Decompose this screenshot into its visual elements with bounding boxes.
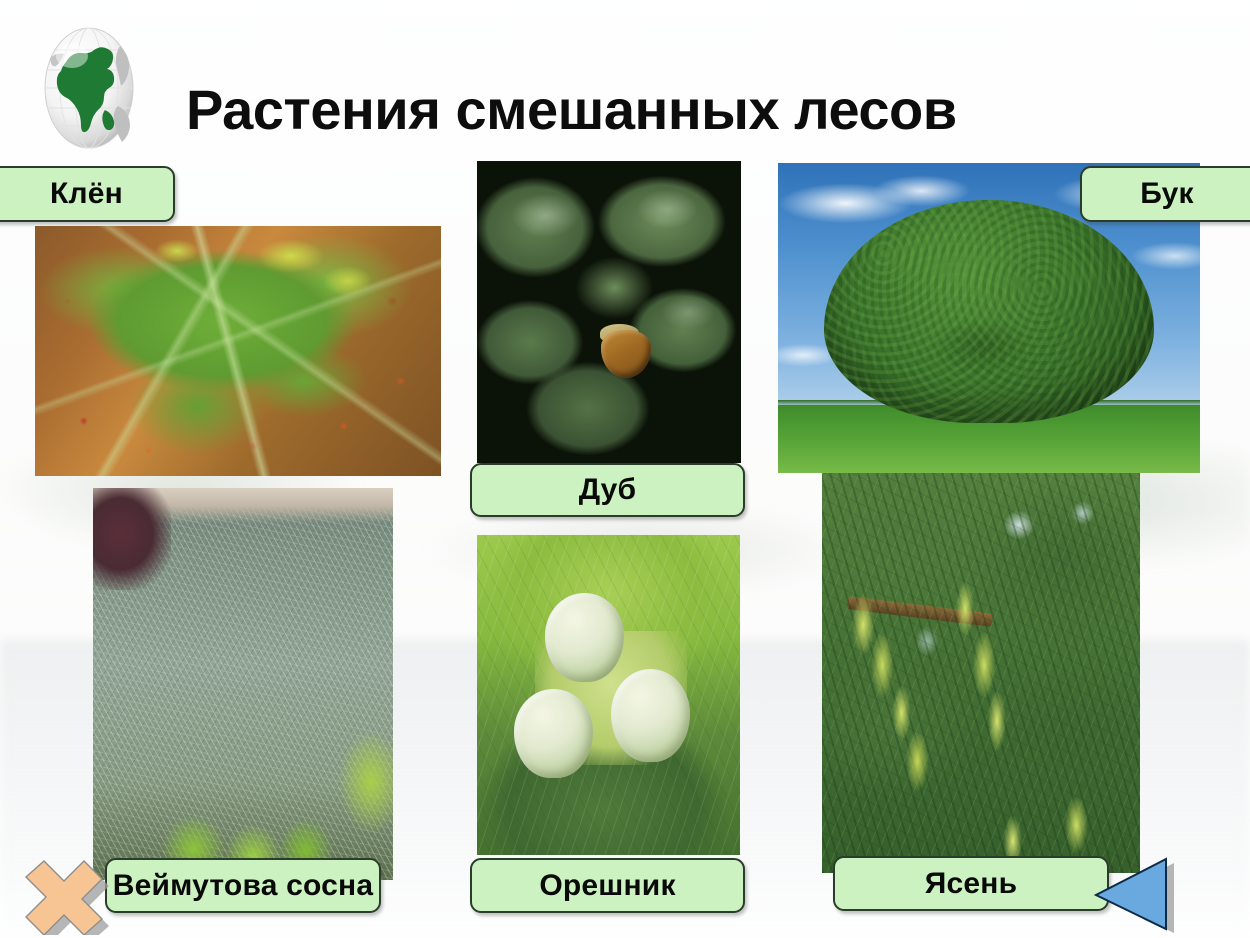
- maple-leaf-photo: [35, 226, 441, 476]
- globe-north-america-icon: [36, 22, 142, 162]
- caption-oak[interactable]: Дуб: [470, 463, 745, 517]
- x-mark-icon[interactable]: [18, 853, 110, 935]
- oak-leaves-acorn-photo: [477, 161, 741, 463]
- caption-maple[interactable]: Клён: [0, 166, 175, 222]
- slide-root: Растения смешанных лесов: [0, 0, 1250, 938]
- caption-hazel[interactable]: Орешник: [470, 858, 745, 913]
- caption-ash[interactable]: Ясень: [833, 856, 1109, 911]
- caption-weymouth-pine[interactable]: Веймутова сосна: [105, 858, 381, 913]
- hazelnut-photo: [477, 535, 740, 855]
- ash-seeds-photo: [822, 473, 1140, 873]
- left-pointing-triangle-arrow-icon[interactable]: [1090, 855, 1176, 933]
- page-title: Растения смешанных лесов: [186, 82, 1086, 138]
- caption-beech[interactable]: Бук: [1080, 166, 1250, 222]
- weymouth-pine-photo: [93, 488, 393, 880]
